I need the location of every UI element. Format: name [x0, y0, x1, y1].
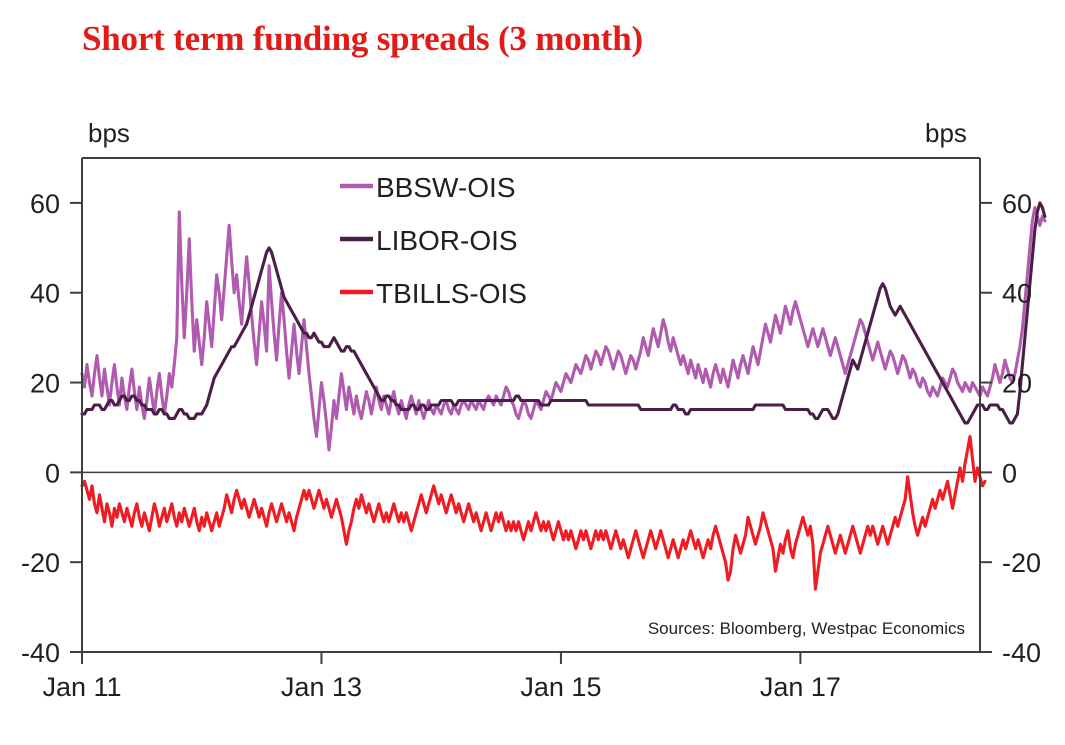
chart-figure: Short term funding spreads (3 month) bps… [0, 0, 1065, 745]
y-tick-label-right: 40 [1002, 279, 1032, 309]
source-note-label: Sources: Bloomberg, Westpac Economics [648, 619, 965, 638]
y-tick-label-right: 20 [1002, 369, 1032, 399]
y-tick-label-right: 0 [1002, 458, 1017, 488]
y-tick-label-left: 20 [30, 369, 60, 399]
x-tick-label: Jan 17 [760, 672, 841, 702]
source-note: Sources: Bloomberg, Westpac Economics [648, 619, 965, 638]
x-axis-ticks: Jan 11Jan 13Jan 15Jan 17 [42, 652, 840, 702]
y-tick-label-left: 60 [30, 189, 60, 219]
y-tick-label-left: 40 [30, 279, 60, 309]
line-chart-plot: 60604040202000-20-20-40-40 Jan 11Jan 13J… [0, 0, 1065, 745]
x-tick-label: Jan 13 [281, 672, 362, 702]
y-tick-label-right: -20 [1002, 548, 1041, 578]
y-tick-label-right: -40 [1002, 638, 1041, 668]
legend-label-bbsw-ois: BBSW-OIS [376, 172, 516, 203]
x-tick-label: Jan 15 [520, 672, 601, 702]
y-tick-label-right: 60 [1002, 189, 1032, 219]
plot-background [82, 158, 980, 652]
y-tick-label-left: 0 [45, 458, 60, 488]
y-tick-label-left: -20 [21, 548, 60, 578]
y-tick-label-left: -40 [21, 638, 60, 668]
legend-label-tbills-ois: TBILLS-OIS [376, 278, 527, 309]
legend-label-libor-ois: LIBOR-OIS [376, 225, 518, 256]
x-tick-label: Jan 11 [42, 672, 121, 702]
